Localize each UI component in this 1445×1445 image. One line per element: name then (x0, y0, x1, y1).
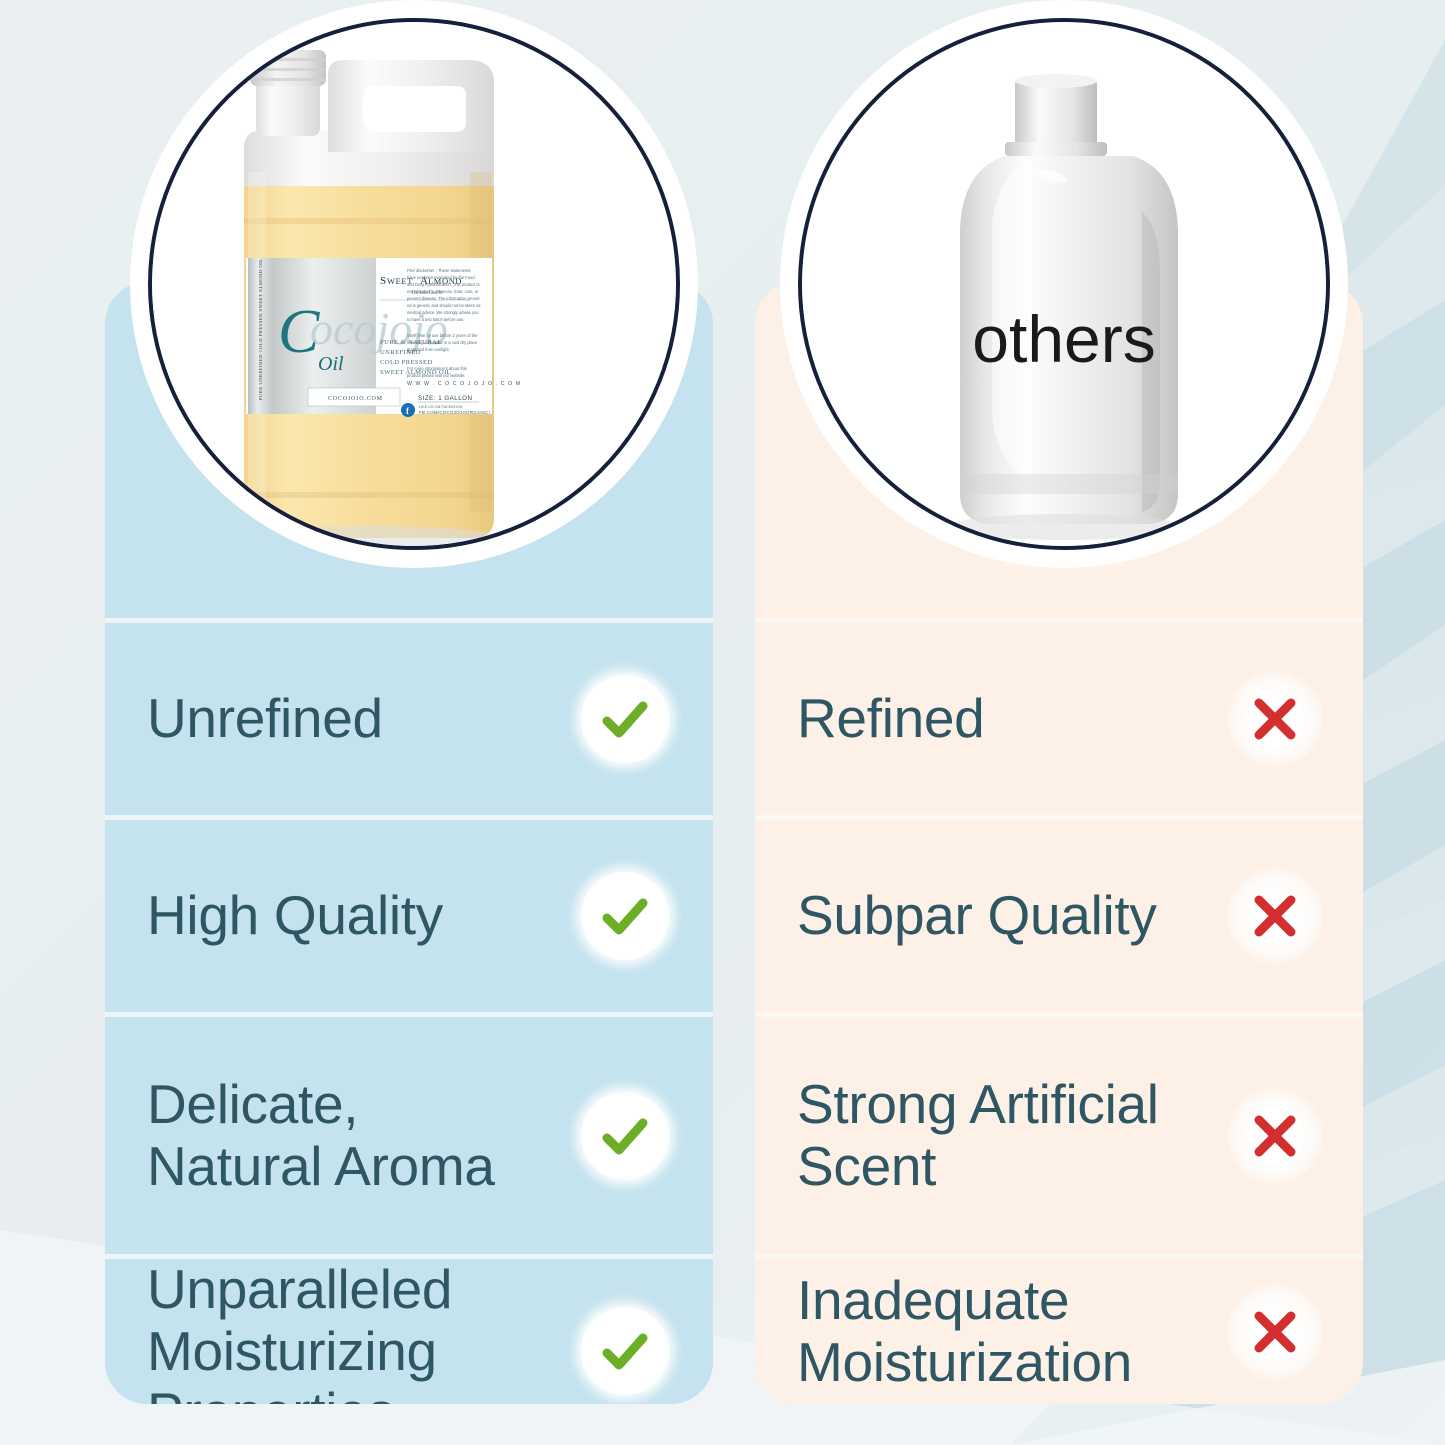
check-icon (581, 872, 669, 960)
svg-text:For more information's about t: For more information's about this (407, 366, 467, 371)
product-photo-cocojojo: PURE UNREFINED COLD PRESSED SWEET ALMOND… (148, 18, 680, 550)
svg-text:and Drug Administration. This: and Drug Administration. This product is (407, 282, 480, 287)
svg-text:S: S (380, 275, 387, 287)
svg-text:not intended to diagnose, trea: not intended to diagnose, treat, cure, o… (407, 289, 479, 294)
jug-illustration: PURE UNREFINED COLD PRESSED SWEET ALMOND… (152, 22, 676, 546)
svg-text:COLD PRESSED: COLD PRESSED (380, 359, 433, 366)
feature-row: Inadequate Moisturization (755, 1254, 1363, 1404)
svg-text:product please visit our websi: product please visit our website: (407, 373, 465, 378)
svg-text:protected from sunlight.: protected from sunlight. (407, 347, 450, 352)
check-icon (581, 675, 669, 763)
svg-text:W W W . C O C O J O J O . C O: W W W . C O C O J O J O . C O M (407, 381, 521, 387)
feature-row: High Quality (105, 815, 713, 1012)
svg-text:Oil: Oil (318, 353, 344, 375)
feature-row: Strong Artificial Scent (755, 1012, 1363, 1254)
feature-row: Subpar Quality (755, 815, 1363, 1012)
left-feature-list: Unrefined High Quality Delicate, Natural… (105, 618, 713, 1404)
feature-label: High Quality (147, 885, 443, 947)
svg-text:receiving day. Store in a cool: receiving day. Store in a cool dry place (407, 340, 478, 345)
svg-text:have not been evaluated by the: have not been evaluated by the Food (407, 275, 475, 280)
feature-label: Inadequate Moisturization (797, 1270, 1132, 1393)
svg-text:SIZE: 1 GALLON: SIZE: 1 GALLON (418, 395, 472, 402)
bottle-illustration: others (802, 22, 1326, 546)
cross-icon (1231, 872, 1319, 960)
feature-label: Subpar Quality (797, 885, 1157, 947)
svg-text:FB.COM/COCOJOJOORGANIC/: FB.COM/COCOJOJOORGANIC/ (419, 410, 491, 415)
svg-text:COCOJOJO.COM: COCOJOJO.COM (328, 396, 383, 402)
feature-label: Refined (797, 688, 984, 750)
feature-label: Delicate, Natural Aroma (147, 1074, 495, 1197)
feature-label: Unrefined (147, 688, 383, 750)
check-icon (581, 1092, 669, 1180)
feature-row: Unparalleled Moisturizing Properties (105, 1254, 713, 1404)
svg-text:Shelf time: to use before 2 ye: Shelf time: to use before 2 years of the (407, 333, 478, 338)
feature-label: Unparalleled Moisturizing Properties (147, 1259, 452, 1404)
svg-text:LIKE US ON FACEBOOK:: LIKE US ON FACEBOOK: (419, 405, 463, 409)
svg-text:FDA disclaimer : These stat: FDA disclaimer : These statements (407, 268, 470, 273)
product-photo-others: others (798, 18, 1330, 550)
svg-text:ed is generic and should not b: ed is generic and should not be taken as (407, 303, 481, 308)
others-bottle-label: others (972, 302, 1155, 376)
svg-text:prevent disease. The informati: prevent disease. The information provid- (407, 296, 481, 301)
feature-row: Unrefined (105, 618, 713, 815)
right-feature-list: Refined Subpar Quality (755, 618, 1363, 1404)
check-icon (581, 1307, 669, 1395)
cross-icon (1231, 1288, 1319, 1376)
svg-text:PURE UNREFINED COLD PRESSED SW: PURE UNREFINED COLD PRESSED SWEET ALMOND… (258, 258, 263, 400)
svg-text:to have a test batch before us: to have a test batch before use. (407, 317, 464, 322)
svg-text:medical advice. We strongly ad: medical advice. We strongly advise you (407, 310, 479, 315)
cross-icon (1231, 1092, 1319, 1180)
feature-row: Delicate, Natural Aroma (105, 1012, 713, 1254)
feature-row: Refined (755, 618, 1363, 815)
feature-label: Strong Artificial Scent (797, 1074, 1159, 1197)
cross-icon (1231, 675, 1319, 763)
